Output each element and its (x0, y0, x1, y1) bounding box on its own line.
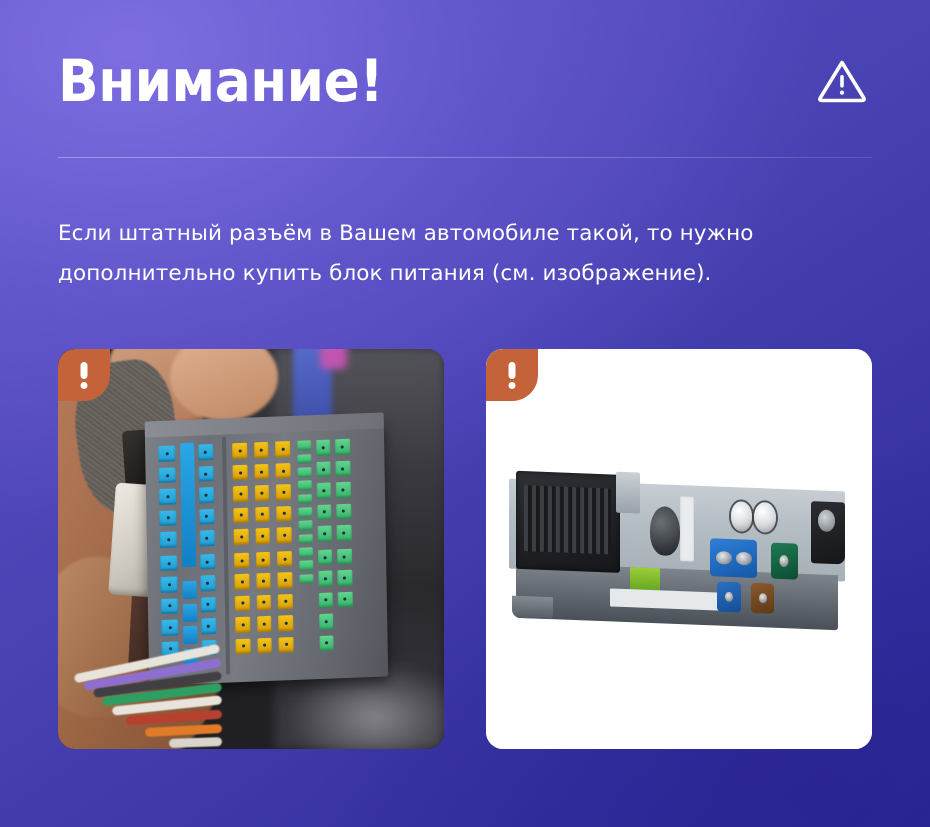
wire-bundle (73, 653, 312, 749)
card-power-supply-photo[interactable] (486, 349, 872, 749)
power-supply-unit (509, 479, 845, 628)
connector-body (145, 420, 389, 685)
banner-header: Внимание! (58, 0, 872, 110)
card-car-connector-photo[interactable] (58, 349, 444, 749)
image-card-row (58, 349, 872, 749)
exclamation-icon (509, 362, 516, 379)
power-supply-scene (486, 349, 872, 749)
exclamation-icon (81, 362, 88, 379)
header-divider (58, 157, 872, 158)
page-title: Внимание! (58, 52, 383, 110)
banner-body-text: Если штатный разъём в Вашем автомобиле т… (58, 214, 872, 294)
connector-photo-scene (58, 349, 444, 749)
card-badge-right (486, 349, 538, 401)
card-badge-left (58, 349, 110, 401)
body-line-1: Если штатный разъём в Вашем автомобиле т… (58, 221, 754, 246)
body-line-2: дополнительно купить блок питания (см. и… (58, 254, 872, 294)
warning-triangle-icon (816, 55, 868, 107)
attention-banner: Внимание! Если штатный разъём в Вашем ав… (0, 0, 930, 827)
